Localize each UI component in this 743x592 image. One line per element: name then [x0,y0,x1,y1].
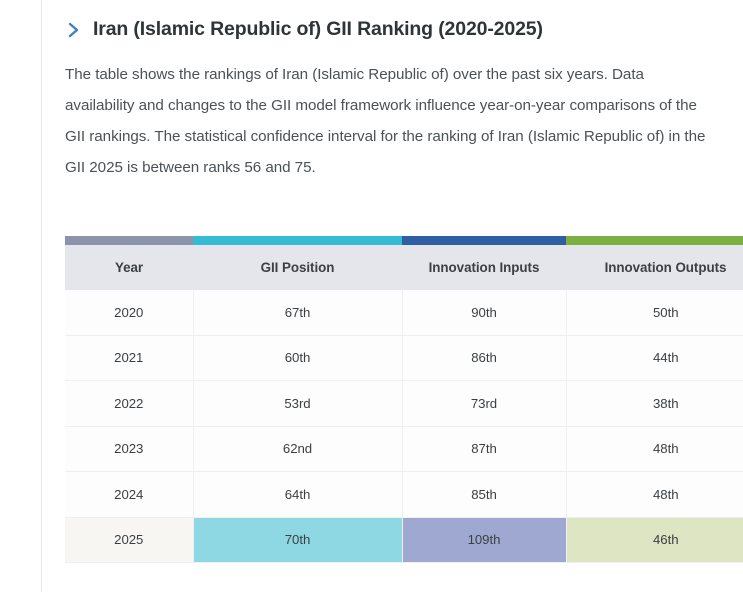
page-title: Iran (Islamic Republic of) GII Ranking (… [93,18,543,41]
cell-year: 2020 [65,290,193,335]
cell-year: 2023 [65,426,193,472]
card-title-row[interactable]: Iran (Islamic Republic of) GII Ranking (… [65,18,743,41]
bar-innovation-outputs [566,236,743,245]
column-header-year: Year [65,245,193,290]
table-body: 202067th90th50th202160th86th44th202253rd… [65,290,743,563]
cell-innovation-outputs: 44th [566,335,743,381]
cell-innovation-outputs: 46th [566,517,743,563]
cell-innovation-inputs: 109th [402,517,566,563]
cell-innovation-outputs: 48th [566,472,743,518]
cell-gii-position: 53rd [193,381,402,427]
gii-ranking-table: Year GII Position Innovation Inputs Inno… [65,236,743,563]
cell-year: 2025 [65,517,193,563]
cell-innovation-outputs: 48th [566,426,743,472]
table-row: 202570th109th46th [65,517,743,563]
page-left-rail [0,0,42,592]
gii-ranking-card: Iran (Islamic Republic of) GII Ranking (… [43,0,743,592]
bar-innovation-inputs [402,236,566,245]
cell-gii-position: 64th [193,472,402,518]
cell-gii-position: 67th [193,290,402,335]
cell-gii-position: 62nd [193,426,402,472]
color-bar-gii-position [193,236,402,245]
description-paragraph: The table shows the rankings of Iran (Is… [65,59,713,183]
cell-innovation-outputs: 50th [566,290,743,335]
cell-gii-position: 60th [193,335,402,381]
cell-innovation-inputs: 87th [402,426,566,472]
cell-innovation-inputs: 73rd [402,381,566,427]
cell-year: 2022 [65,381,193,427]
color-bar-innovation-outputs [566,236,743,245]
gii-table-container: Year GII Position Innovation Inputs Inno… [65,236,743,563]
table-row: 202362nd87th48th [65,426,743,472]
cell-innovation-outputs: 38th [566,381,743,427]
color-bar-year [65,236,193,245]
cell-innovation-inputs: 85th [402,472,566,518]
table-header-row: Year GII Position Innovation Inputs Inno… [65,245,743,290]
cell-innovation-inputs: 86th [402,335,566,381]
column-color-bar-row [65,236,743,245]
column-header-innovation-inputs: Innovation Inputs [402,245,566,290]
column-header-innovation-outputs: Innovation Outputs [566,245,743,290]
table-row: 202160th86th44th [65,335,743,381]
table-row: 202464th85th48th [65,472,743,518]
cell-year: 2021 [65,335,193,381]
bar-gii-position [193,236,402,245]
column-header-gii-position: GII Position [193,245,402,290]
table-row: 202253rd73rd38th [65,381,743,427]
cell-year: 2024 [65,472,193,518]
cell-innovation-inputs: 90th [402,290,566,335]
cell-gii-position: 70th [193,517,402,563]
table-row: 202067th90th50th [65,290,743,335]
color-bar-innovation-inputs [402,236,566,245]
bar-year [65,236,193,245]
chevron-right-icon[interactable] [65,20,81,40]
